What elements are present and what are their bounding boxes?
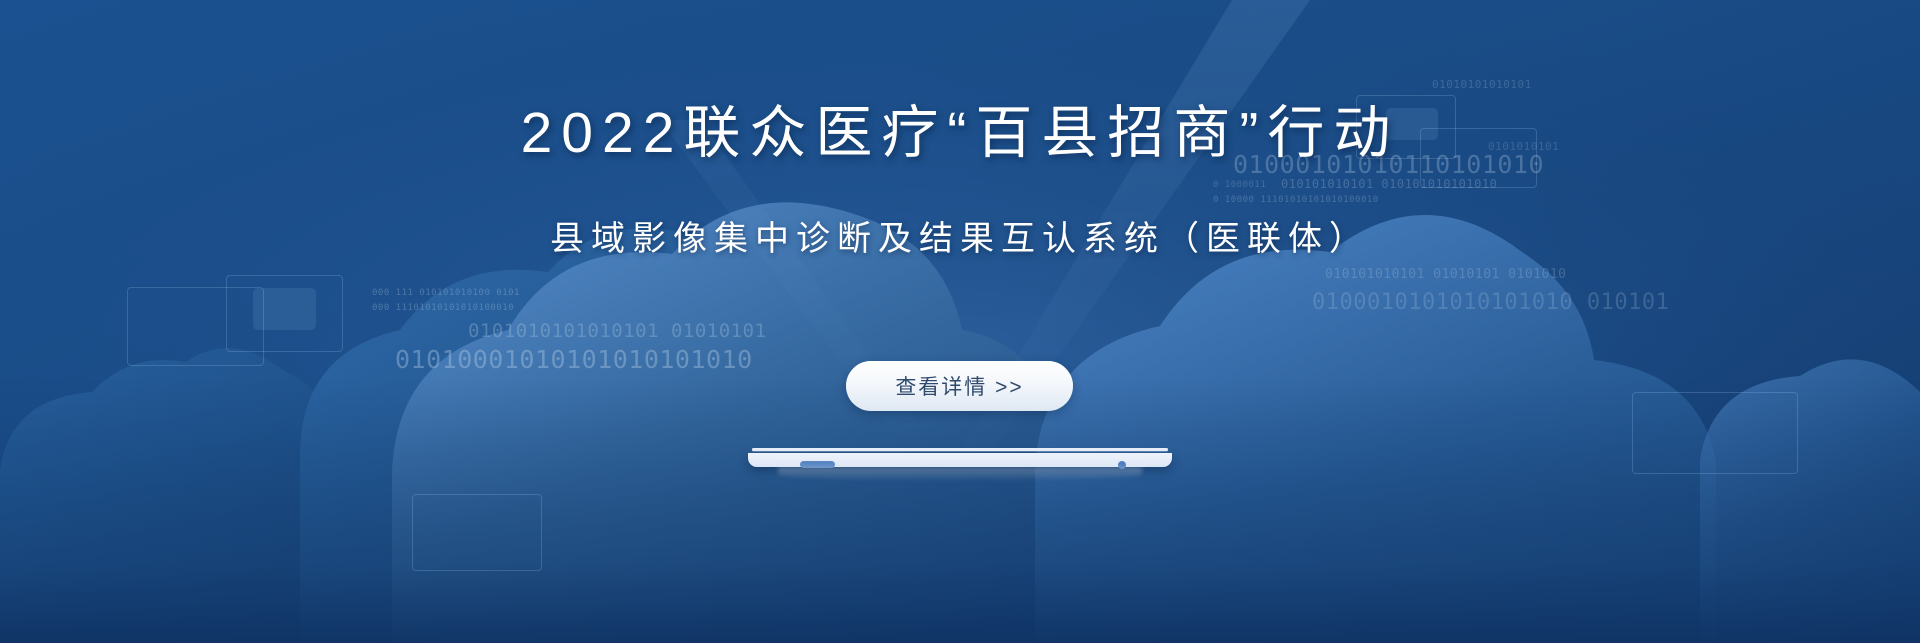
decor-binary-text: 0101010101010101 01010101 xyxy=(468,320,766,342)
decor-rect-outline xyxy=(1632,392,1798,474)
tablet-device-illustration xyxy=(748,448,1172,474)
decor-rect-outline xyxy=(412,494,542,571)
page-title: 2022联众医疗“百县招商”行动 xyxy=(0,98,1920,168)
page-subtitle: 县域影像集中诊断及结果互认系统（医联体） xyxy=(0,216,1920,262)
device-bezel xyxy=(748,453,1172,467)
decor-binary-text: 000 111 010101010100 0101 xyxy=(372,288,520,298)
decor-binary-text: 0100010101010101010 010101 xyxy=(1312,290,1669,315)
promo-banner: 000 111 010101010100 0101000 11101010101… xyxy=(0,0,1920,643)
decor-binary-text: 010101010101 01010101 0101010 xyxy=(1325,267,1566,282)
decor-rect-outline xyxy=(127,287,264,366)
decor-layer: 000 111 010101010100 0101000 11101010101… xyxy=(0,0,1920,643)
decor-binary-text: 0 1000011 xyxy=(1213,180,1266,190)
decor-binary-text: 01010001010101010101010 xyxy=(395,345,753,374)
device-screen-edge xyxy=(752,448,1168,451)
decor-binary-text: 010101010101 010101010101010 xyxy=(1281,177,1497,191)
decor-binary-text: 0 10000 11101010101010100010 xyxy=(1213,195,1379,205)
decor-binary-text: 000 11101010101010100010 xyxy=(372,303,514,313)
device-reflection xyxy=(778,467,1142,481)
view-details-button[interactable]: 查看详情 >> xyxy=(846,361,1073,411)
decor-binary-text: 01010101010101 xyxy=(1432,78,1532,91)
